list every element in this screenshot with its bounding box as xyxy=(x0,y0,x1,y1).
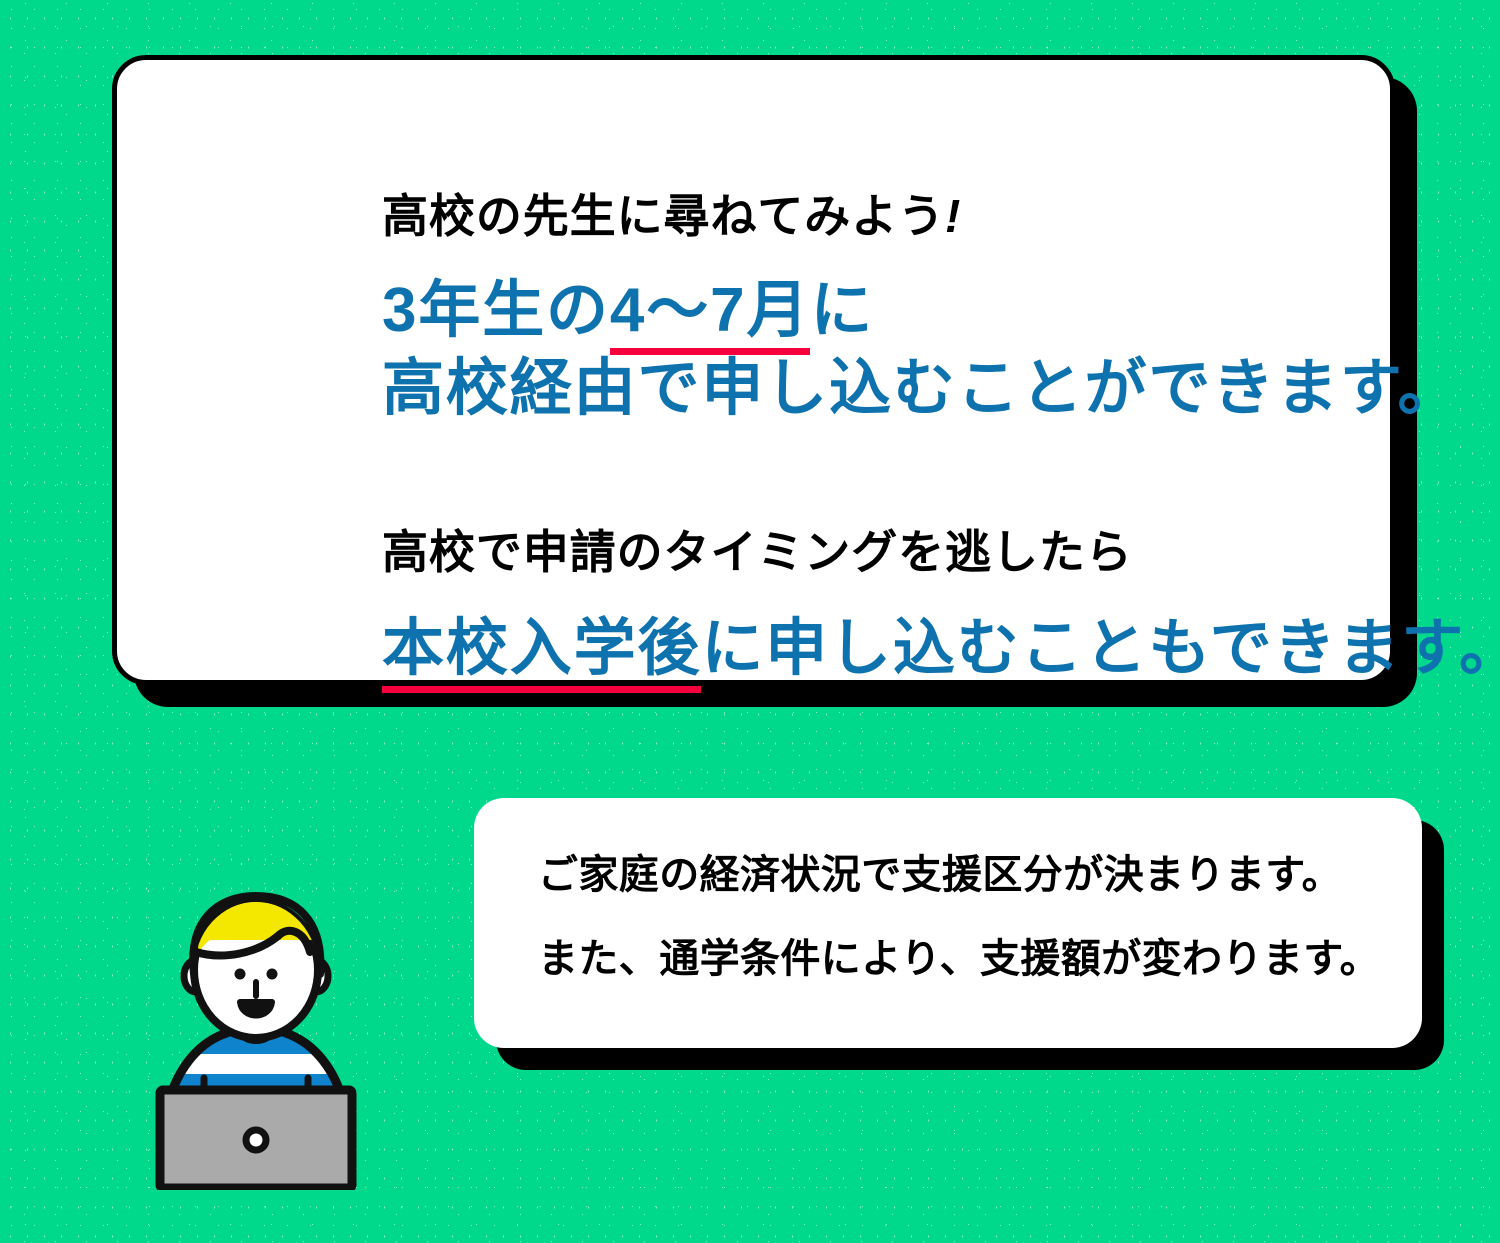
laptop-logo-icon xyxy=(246,1130,266,1150)
card-primary-blue-line-3: 本校入学後に申し込むこともできます。 xyxy=(382,612,1500,685)
laptop-group xyxy=(160,1078,352,1188)
card-secondary-line-1: ご家庭の経済状況で支援区分が決まります。 xyxy=(538,855,1398,895)
right-eye xyxy=(267,969,278,980)
card-secondary-text-block: ご家庭の経済状況で支援区分が決まります。 また、通学条件により、支援額が変わりま… xyxy=(538,855,1398,979)
card-primary-subheading: 高校で申請のタイミングを逃したら xyxy=(382,527,1133,578)
blue-line-1-highlight: 4～7月 xyxy=(610,274,810,347)
card-secondary-line-2: また、通学条件により、支援額が変わります。 xyxy=(538,939,1398,979)
student-with-laptop-illustration xyxy=(146,878,366,1190)
poster-canvas: 高校の先生に尋ねてみよう! 3年生の4～7月に 高校経由で申し込むことができます… xyxy=(0,0,1500,1243)
blue-line-1-prefix: 3年生の xyxy=(382,276,610,345)
heading-exclamation: ! xyxy=(945,190,961,242)
blue-line-1-suffix: に xyxy=(810,276,874,345)
card-primary-blue-line-1: 3年生の4～7月に xyxy=(382,274,874,347)
card-primary-heading: 高校の先生に尋ねてみよう! xyxy=(382,191,961,242)
blue-line-3-suffix: に申し込むこともできます。 xyxy=(701,614,1500,683)
mouth xyxy=(240,1002,272,1016)
character-svg xyxy=(146,878,366,1190)
heading-text: 高校の先生に尋ねてみよう xyxy=(382,190,945,242)
left-eye xyxy=(235,969,246,980)
card-primary-blue-line-2: 高校経由で申し込むことができます。 xyxy=(382,352,1461,425)
blue-line-3-highlight: 本校入学後 xyxy=(382,612,701,685)
info-card-primary: 高校の先生に尋ねてみよう! 3年生の4～7月に 高校経由で申し込むことができます… xyxy=(112,55,1395,685)
